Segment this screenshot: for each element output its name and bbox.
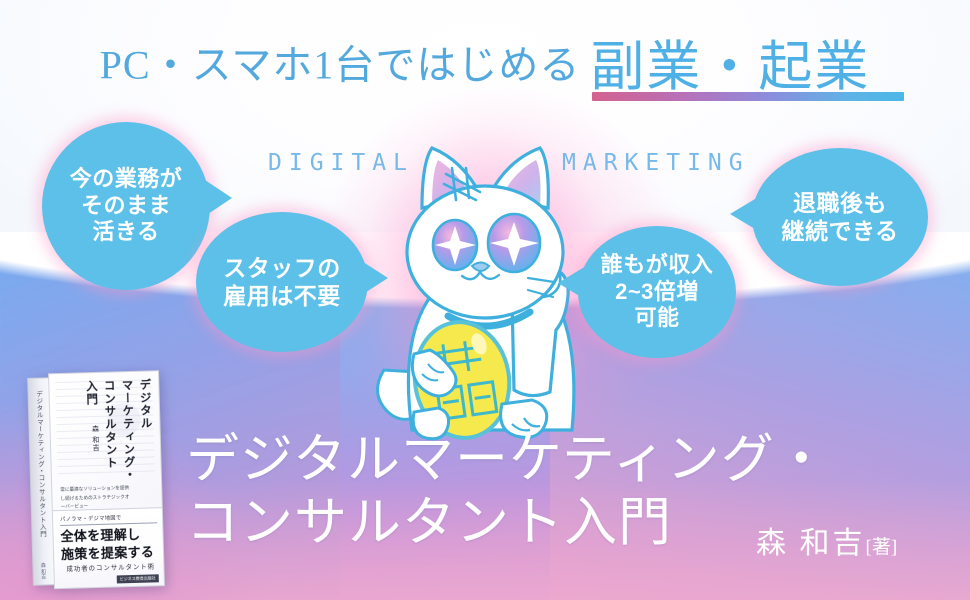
bubble-tail xyxy=(202,178,232,218)
bubble-tail xyxy=(558,266,586,300)
bubble-current-work: 今の業務が そのまま 活きる xyxy=(42,122,210,290)
book-title-display: デジタルマーケティング・ コンサルタント入門 xyxy=(186,432,829,552)
bubble-income-up: 誰もが収入 2~3倍増 可能 xyxy=(578,226,736,358)
bubble-text: 誰もが収入 2~3倍増 可能 xyxy=(595,252,720,332)
book-spine-title: デジタルマーケティング・コンサルタント入門 xyxy=(33,390,47,537)
book-front-cover: デジタル マーケティング・ コンサルタント 入門 森 和吉 常に最適なソリューシ… xyxy=(48,370,165,589)
obi-line-2: 施策を提案する xyxy=(61,541,155,563)
headline-underline-bar xyxy=(592,92,904,101)
bubble-after-retire: 退職後も 継続できる xyxy=(752,148,928,286)
poster-canvas: PC・スマホ1台ではじめる副業・起業 DIGITAL MARKETING xyxy=(0,0,970,600)
headline-lead: PC・スマホ1台ではじめる xyxy=(100,43,581,88)
book-cover-mockup[interactable]: デジタルマーケティング・コンサルタント入門 森 和吉 デジタル マーケティング・… xyxy=(27,370,165,590)
author-name: 森 和吉 xyxy=(756,527,866,560)
headline-emphasis: 副業・起業 xyxy=(590,37,870,97)
book-title-line-2: コンサルタント入門 xyxy=(186,495,829,552)
book-spine-author: 森 和吉 xyxy=(40,562,47,579)
cover-author: 森 和吉 xyxy=(89,425,100,452)
bubble-no-staff: スタッフの 雇用は不要 xyxy=(196,212,368,352)
bubble-tail xyxy=(730,196,760,232)
bubble-tail xyxy=(360,260,388,296)
obi-publisher: ビジネス教育出版社 xyxy=(117,574,159,583)
headline: PC・スマホ1台ではじめる副業・起業 xyxy=(0,22,970,101)
cover-obi-band: パノラマ・デジマ地図で 全体を理解し 施策を提案する 成功者のコンサルタント術 … xyxy=(53,507,164,588)
bubble-text: 今の業務が そのまま 活きる xyxy=(64,166,189,246)
book-title-line-1: デジタルマーケティング・ xyxy=(186,432,829,489)
bubble-text: スタッフの 雇用は不要 xyxy=(217,254,347,310)
obi-subtext: 成功者のコンサルタント術 xyxy=(66,561,155,572)
bubble-text: 退職後も 継続できる xyxy=(775,189,904,245)
author-role-mark: [著] xyxy=(866,537,898,558)
author-credit: 森 和吉[著] xyxy=(756,518,897,562)
